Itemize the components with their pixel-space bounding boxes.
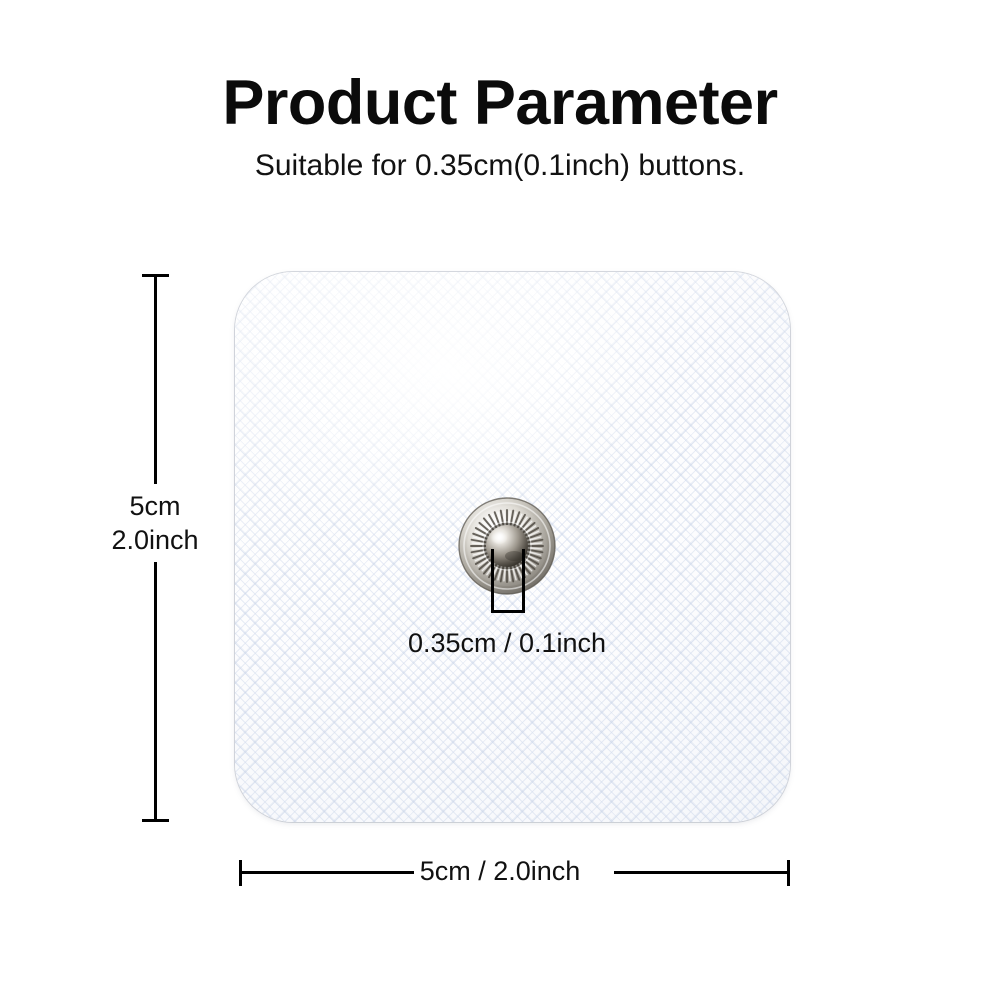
width-dimension-label: 5cm / 2.0inch bbox=[400, 858, 600, 885]
product-parameter-page: Product Parameter Suitable for 0.35cm(0.… bbox=[0, 0, 1000, 1000]
height-dimension-label-inch: 2.0inch bbox=[74, 523, 236, 557]
height-dimension-line-upper bbox=[154, 276, 157, 484]
metal-snap-button bbox=[457, 496, 557, 596]
page-subtitle: Suitable for 0.35cm(0.1inch) buttons. bbox=[0, 147, 1000, 185]
button-dimension-extension-right bbox=[522, 549, 525, 613]
width-dimension-cap-right bbox=[787, 860, 790, 886]
height-dimension-label: 5cm 2.0inch bbox=[74, 489, 236, 557]
height-dimension-label-cm: 5cm bbox=[74, 489, 236, 523]
page-title: Product Parameter bbox=[0, 72, 1000, 135]
button-dimension-extension-left bbox=[491, 549, 494, 613]
height-dimension-cap-bottom bbox=[142, 819, 169, 822]
height-dimension-line-lower bbox=[154, 562, 157, 821]
width-dimension-line-left bbox=[241, 871, 414, 874]
button-dimension-label: 0.35cm / 0.1inch bbox=[357, 630, 657, 657]
button-dimension-baseline bbox=[491, 610, 525, 613]
width-dimension-line-right bbox=[614, 871, 789, 874]
